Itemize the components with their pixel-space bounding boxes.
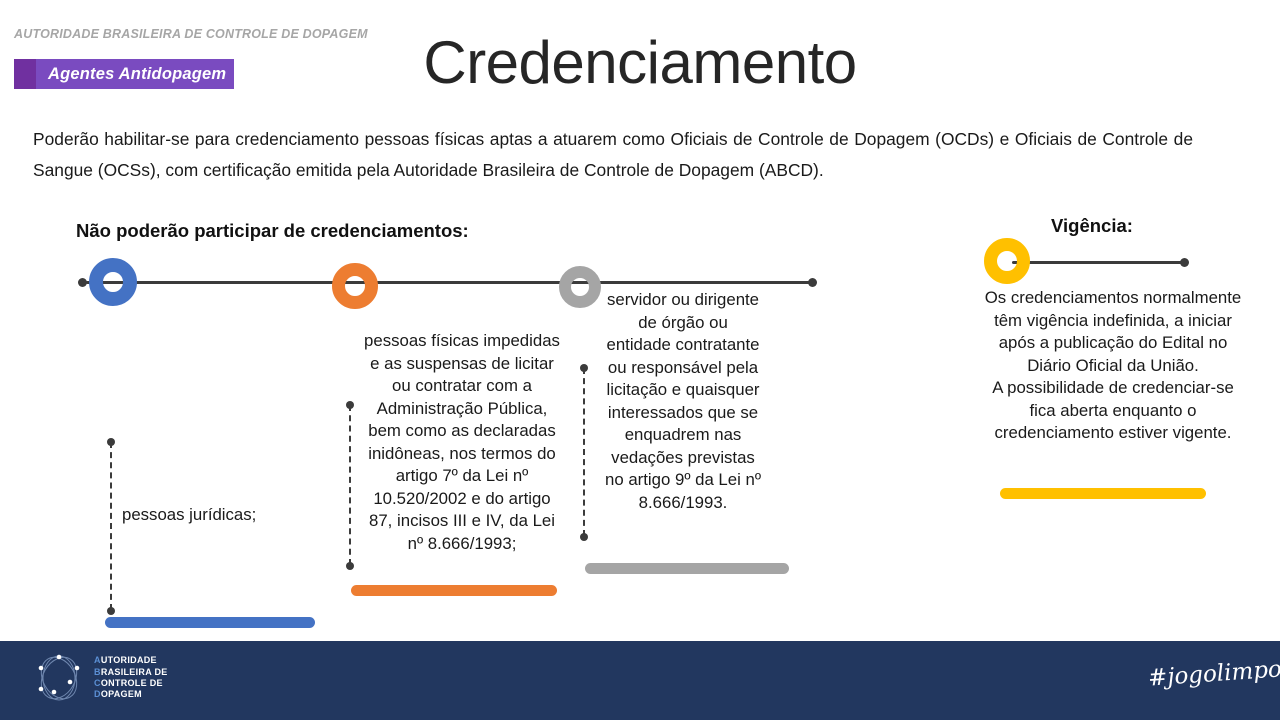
validity-marker	[984, 238, 1030, 284]
slide: AUTORIDADE BRASILEIRA DE CONTROLE DE DOP…	[0, 0, 1280, 720]
restriction-item-2-bar	[351, 585, 557, 596]
footer-logo-line-2-rest: RASILEIRA DE	[101, 667, 168, 677]
restriction-item-3-text: servidor ou dirigente de órgão ou entida…	[604, 289, 762, 514]
connector-2-line	[349, 405, 351, 565]
validity-heading: Vigência:	[1051, 215, 1133, 237]
restrictions-heading: Não poderão participar de credenciamento…	[76, 220, 469, 242]
timeline-marker-2	[332, 263, 378, 309]
timeline-end-dot	[808, 278, 817, 287]
footer-logo-line-2: BRASILEIRA DE	[94, 667, 168, 678]
footer-logo-line-3-cap: C	[94, 678, 101, 688]
restriction-item-1-text: pessoas jurídicas;	[122, 504, 322, 527]
validity-timeline-end-dot	[1180, 258, 1189, 267]
timeline-marker-3	[559, 266, 601, 308]
footer-logo: AUTORIDADE BRASILEIRA DE CONTROLE DE DOP…	[30, 652, 168, 704]
connector-2-bottom-dot	[346, 562, 354, 570]
restriction-item-1-bar	[105, 617, 315, 628]
validity-text: Os credenciamentos normalmente têm vigên…	[982, 287, 1244, 445]
timeline-start-dot	[78, 278, 87, 287]
connector-3-line	[583, 368, 585, 536]
footer-logo-line-1: AUTORIDADE	[94, 655, 168, 666]
footer-band	[0, 641, 1280, 720]
footer-logo-line-2-cap: B	[94, 667, 101, 677]
restriction-item-3-bar	[585, 563, 789, 574]
footer-logo-line-3-rest: ONTROLE DE	[101, 678, 163, 688]
footer-logo-line-1-rest: UTORIDADE	[101, 655, 157, 665]
footer-logo-line-4-rest: OPAGEM	[101, 689, 142, 699]
abcd-network-icon	[30, 652, 88, 704]
footer-logo-line-4-cap: D	[94, 689, 101, 699]
footer-logo-line-1-cap: A	[94, 655, 101, 665]
footer-logo-line-4: DOPAGEM	[94, 689, 168, 700]
page-title: Credenciamento	[0, 28, 1280, 97]
validity-timeline-axis	[1012, 261, 1184, 264]
validity-bar	[1000, 488, 1206, 499]
intro-paragraph: Poderão habilitar-se para credenciamento…	[33, 124, 1193, 186]
connector-3-bottom-dot	[580, 533, 588, 541]
footer-logo-line-3: CONTROLE DE	[94, 678, 168, 689]
connector-1-line	[110, 442, 112, 610]
connector-1-bottom-dot	[107, 607, 115, 615]
timeline-marker-1	[89, 258, 137, 306]
restrictions-timeline-axis	[86, 281, 814, 284]
footer-logo-text: AUTORIDADE BRASILEIRA DE CONTROLE DE DOP…	[94, 655, 168, 701]
restriction-item-2-text: pessoas físicas impedidas e as suspensas…	[363, 330, 561, 555]
